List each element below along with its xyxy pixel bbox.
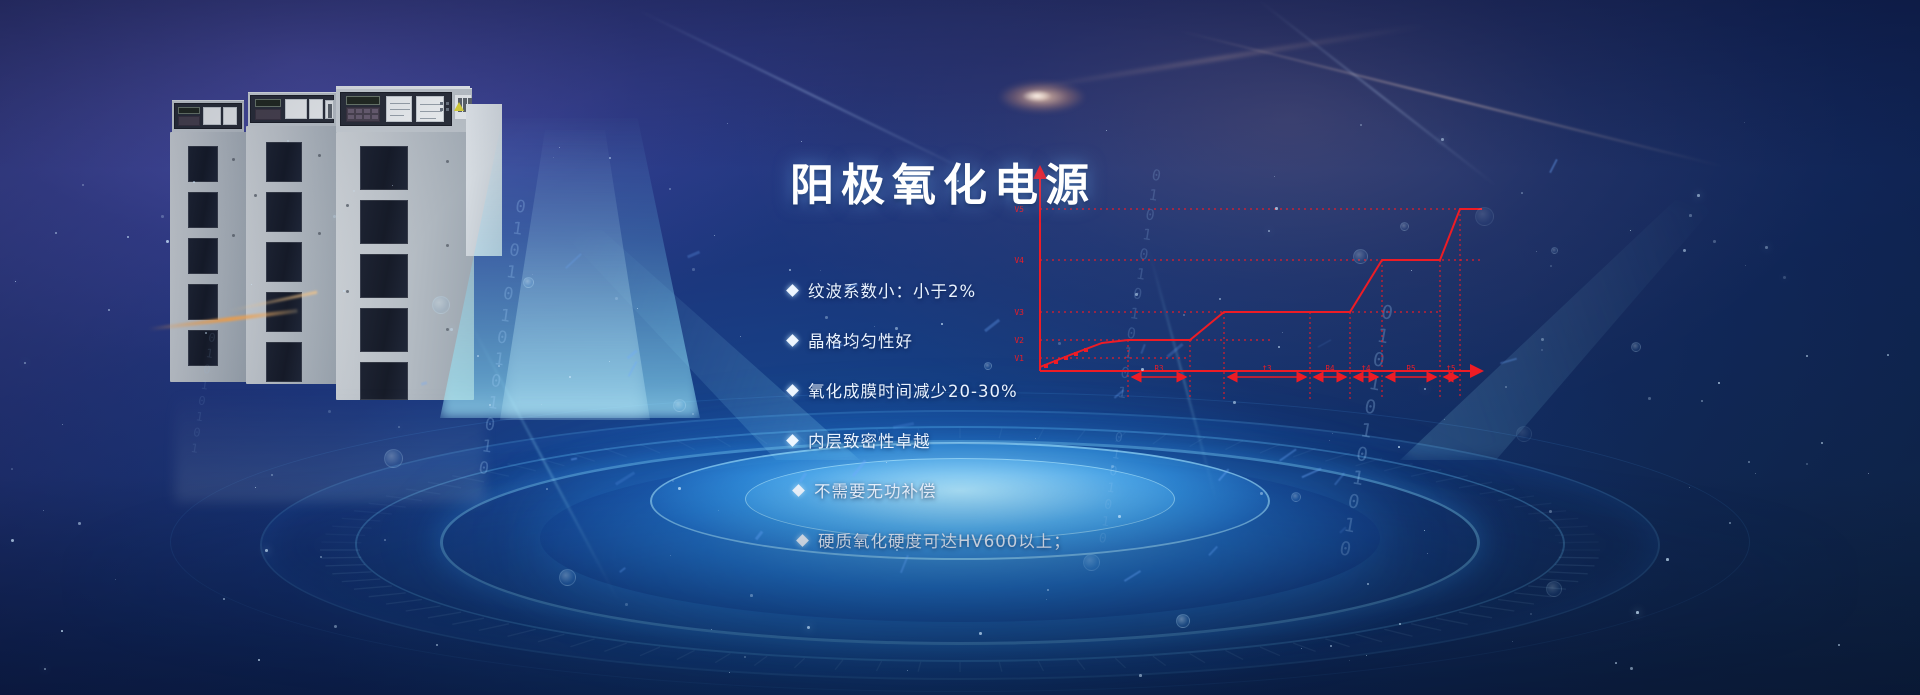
particle <box>1689 214 1692 217</box>
particle <box>1748 461 1750 463</box>
particle <box>896 549 898 551</box>
particle <box>61 630 63 632</box>
particle <box>1427 553 1428 554</box>
particle <box>44 668 46 670</box>
particle <box>1887 354 1889 356</box>
particle <box>1541 338 1544 341</box>
particle <box>11 539 14 542</box>
particle <box>1729 522 1731 524</box>
particle <box>678 487 681 490</box>
lens-flare-core <box>1022 90 1052 102</box>
particle <box>384 539 386 541</box>
particle <box>874 326 875 327</box>
particle <box>1806 355 1808 357</box>
bokeh-particle <box>984 362 992 370</box>
particle <box>205 332 207 334</box>
particle <box>941 323 943 325</box>
particle <box>895 327 898 330</box>
particle <box>672 480 674 482</box>
particle <box>334 625 337 628</box>
particle <box>750 594 753 597</box>
bokeh-particle <box>1516 426 1532 442</box>
particle <box>825 316 828 319</box>
particle <box>1806 463 1808 465</box>
particle <box>625 603 628 606</box>
particle <box>1521 192 1523 194</box>
particle <box>1683 249 1686 252</box>
list-item: 内层致密性卓越 <box>788 415 1268 465</box>
particle <box>11 468 13 470</box>
particle <box>1278 346 1280 348</box>
particle <box>1233 401 1236 404</box>
particle <box>692 268 695 271</box>
particle <box>1268 230 1270 232</box>
particle <box>166 240 169 243</box>
list-item: 纹波系数小：小于2% <box>788 265 1268 315</box>
particle <box>1260 492 1263 495</box>
list-item-label: 氧化成膜时间减少20-30% <box>808 378 1018 402</box>
particle <box>1765 246 1768 249</box>
power-supply-cabinets <box>170 84 500 394</box>
page-title: 阳极氧化电源 <box>790 160 1096 212</box>
bokeh-particle <box>559 569 576 586</box>
particle <box>1745 265 1746 266</box>
particle <box>1541 349 1543 351</box>
bokeh-particle <box>673 399 686 412</box>
diamond-bullet-icon <box>786 384 799 397</box>
particle <box>1512 641 1513 642</box>
warning-triangle-icon <box>454 102 464 111</box>
particle <box>1549 510 1552 513</box>
particle <box>287 140 289 142</box>
particle <box>1636 611 1639 614</box>
particle <box>489 404 491 406</box>
particle <box>637 308 638 309</box>
particle <box>55 232 57 234</box>
light-shard <box>687 251 700 258</box>
particle <box>1135 293 1138 296</box>
diamond-bullet-icon <box>786 334 799 347</box>
bokeh-particle <box>1353 249 1368 264</box>
x-annotation: R4 <box>1325 364 1335 373</box>
particle <box>1141 368 1144 371</box>
particle <box>718 510 719 511</box>
particle <box>398 426 400 428</box>
bokeh-particle <box>384 449 403 468</box>
banner-stage: 0101010101010 010101010101 01010101010 0… <box>0 0 1920 695</box>
particle <box>328 410 331 413</box>
particle <box>82 184 84 186</box>
particle <box>807 626 810 629</box>
particle <box>711 629 712 630</box>
particle <box>1111 465 1114 468</box>
particle <box>1360 124 1362 126</box>
particle <box>1399 623 1401 625</box>
particle <box>161 215 164 218</box>
y-tick-label: V4 <box>1014 256 1024 265</box>
particle <box>886 462 887 463</box>
particle <box>1648 397 1651 400</box>
bokeh-particle <box>523 277 534 288</box>
particle <box>1713 240 1716 243</box>
particle <box>1183 314 1185 316</box>
particle <box>1630 230 1631 231</box>
particle <box>1697 194 1700 197</box>
particle <box>1366 655 1367 656</box>
bokeh-particle <box>1551 247 1558 254</box>
particle <box>1046 599 1047 600</box>
particle <box>1550 265 1552 267</box>
particle <box>729 672 730 673</box>
particle <box>1701 400 1703 402</box>
bottom-shade-overlay <box>0 475 1920 695</box>
particle <box>615 297 618 300</box>
particle <box>1838 644 1840 646</box>
particle <box>265 549 268 552</box>
bokeh-particle <box>1176 614 1190 628</box>
bokeh-particle <box>1631 342 1641 352</box>
particle <box>979 632 982 635</box>
particle <box>957 180 959 182</box>
particle <box>1058 342 1061 345</box>
list-item-label: 内层致密性卓越 <box>808 428 931 452</box>
x-annotation: t4 <box>1361 364 1371 373</box>
particle <box>1424 530 1425 531</box>
particle <box>1118 515 1121 518</box>
particle <box>907 670 908 671</box>
particle <box>1275 207 1278 210</box>
bokeh-particle <box>1475 207 1494 226</box>
particle <box>1536 251 1537 252</box>
bokeh-particle <box>1546 581 1562 597</box>
list-item-label: 纹波系数小：小于2% <box>808 278 976 302</box>
particle <box>744 656 746 658</box>
particle <box>78 522 81 525</box>
particle <box>1630 667 1633 670</box>
particle <box>108 309 110 311</box>
particle <box>714 235 715 236</box>
particle <box>24 362 26 364</box>
particle <box>1530 613 1532 615</box>
diamond-bullet-icon <box>786 284 799 297</box>
x-annotation: t5 <box>1446 364 1455 373</box>
particle <box>333 215 336 218</box>
diamond-bullet-icon <box>786 434 799 447</box>
bokeh-particle <box>1083 554 1100 571</box>
particle <box>1783 276 1786 279</box>
particle <box>450 328 453 331</box>
list-item: 晶格均匀性好 <box>788 315 1268 365</box>
x-annotation: R5 <box>1406 364 1415 373</box>
list-item: 氧化成膜时间减少20-30% <box>788 365 1268 415</box>
particle <box>1349 660 1350 661</box>
particle <box>609 157 611 159</box>
particle <box>251 284 252 285</box>
bokeh-particle <box>1291 492 1301 502</box>
particle <box>669 188 671 190</box>
particle <box>477 355 479 357</box>
particle <box>127 236 129 238</box>
particle <box>1139 674 1142 677</box>
particle <box>15 281 16 282</box>
particle <box>553 157 554 158</box>
list-item-label: 晶格均匀性好 <box>808 328 913 352</box>
particle <box>1035 438 1036 439</box>
particle <box>1666 558 1669 561</box>
bokeh-particle <box>432 296 450 314</box>
bokeh-particle <box>1400 222 1409 231</box>
particle <box>1615 662 1617 664</box>
particle <box>1441 138 1444 141</box>
particle <box>546 488 548 490</box>
particle <box>1398 446 1400 448</box>
